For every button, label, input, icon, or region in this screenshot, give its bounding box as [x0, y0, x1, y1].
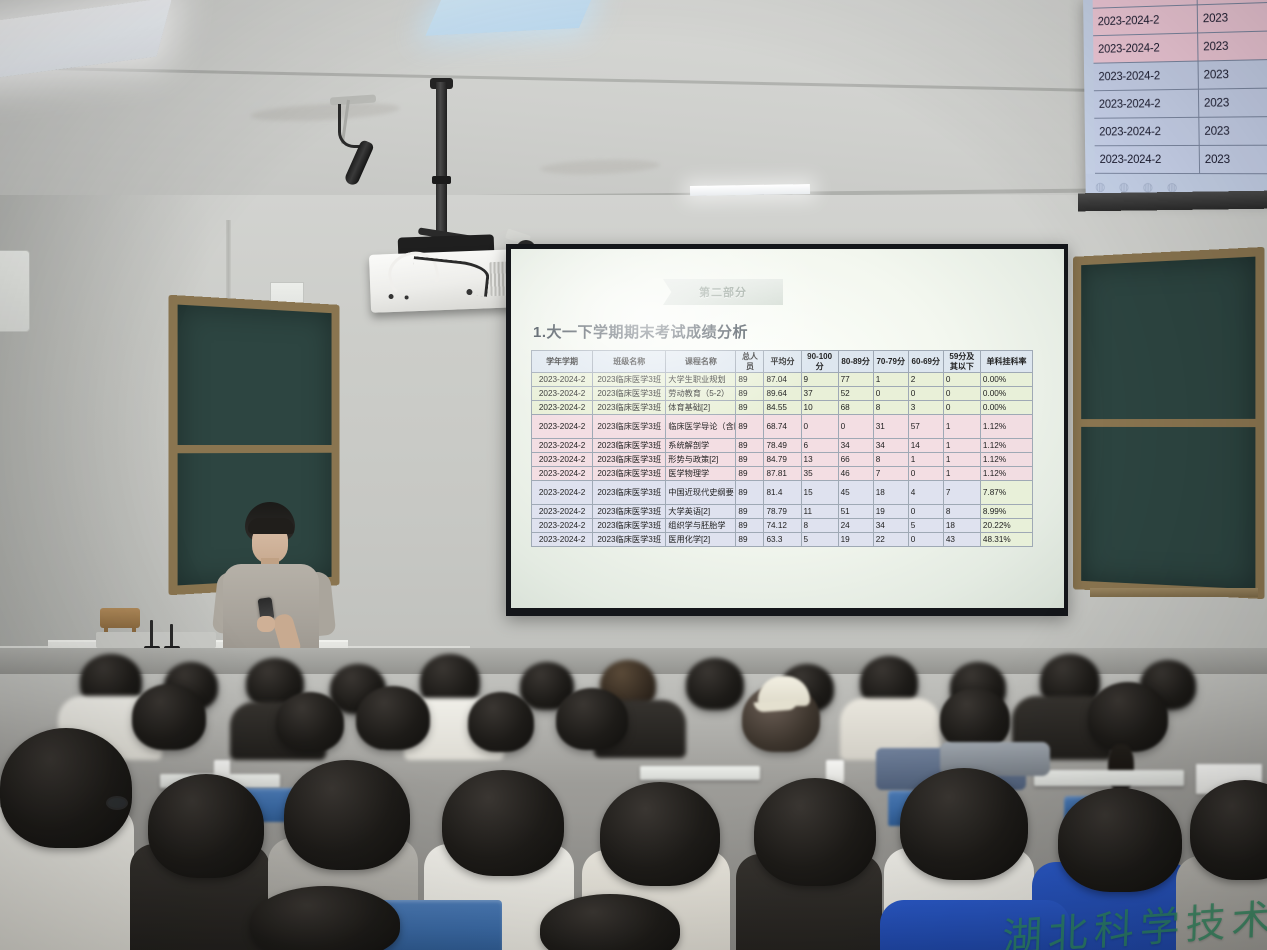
- student-desk: [1034, 770, 1184, 786]
- table-cell-g59: 1: [943, 439, 980, 453]
- table-cell-total: 89: [736, 439, 764, 453]
- student-desk: [640, 766, 760, 780]
- ceiling: [0, 0, 1267, 205]
- audience-head: [686, 658, 744, 710]
- table-cell-course: 形势与政策[2]: [666, 453, 736, 467]
- audience-head-foreground: [754, 778, 876, 886]
- table-cell-g60: 5: [908, 519, 943, 533]
- table-cell-total: 89: [736, 533, 764, 547]
- pointer-stick: [150, 620, 153, 648]
- table-cell-g59: 1: [943, 453, 980, 467]
- table-cell-g80: 66: [838, 453, 873, 467]
- table-cell-class: 2023临床医学3班: [593, 387, 666, 401]
- table-cell-g90: 11: [801, 505, 838, 519]
- table-cell-g80: 68: [838, 401, 873, 415]
- table-column-header-0: 学年学期: [532, 351, 593, 373]
- table-cell-g60: 0: [908, 467, 943, 481]
- table-cell-fail: 8.99%: [980, 505, 1032, 519]
- audience-head: [132, 684, 206, 750]
- table-cell-g70: 8: [873, 401, 908, 415]
- table-cell-g90: 5: [801, 533, 838, 547]
- table-cell-course: 体育基础[2]: [666, 401, 736, 415]
- blackboard-right: [1073, 247, 1265, 599]
- lecture-hall-photo: 2023-2024-220232023-2024-220232023-2024-…: [0, 0, 1267, 950]
- monitor-cell-class: 2023: [1198, 60, 1267, 89]
- monitor-cell-class: 2023: [1199, 88, 1267, 116]
- table-cell-g70: 19: [873, 505, 908, 519]
- table-cell-g90: 6: [801, 439, 838, 453]
- table-cell-g70: 34: [873, 519, 908, 533]
- table-cell-class: 2023临床医学3班: [593, 533, 666, 547]
- wall-duct: [0, 250, 30, 332]
- table-cell-avg: 63.3: [764, 533, 801, 547]
- monitor-table: 2023-2024-220232023-2024-220232023-2024-…: [1092, 0, 1267, 174]
- table-cell-g70: 7: [873, 467, 908, 481]
- table-cell-total: 89: [736, 519, 764, 533]
- monitor-table-row: 2023-2024-22023: [1093, 2, 1267, 36]
- table-cell-class: 2023临床医学3班: [593, 519, 666, 533]
- table-cell-fail: 0.00%: [980, 373, 1032, 387]
- table-column-header-1: 班级名称: [593, 351, 666, 373]
- table-cell-total: 89: [736, 373, 764, 387]
- table-cell-g70: 22: [873, 533, 908, 547]
- audience-head: [356, 686, 430, 750]
- audience-head: [556, 688, 628, 750]
- table-cell-fail: 7.87%: [980, 481, 1032, 505]
- table-cell-avg: 87.04: [764, 373, 801, 387]
- table-cell-fail: 20.22%: [980, 519, 1032, 533]
- table-cell-g60: 4: [908, 481, 943, 505]
- projection-screen: 第二部分 1.大一下学期期末考试成绩分析 学年学期班级名称课程名称总人员平均分9…: [511, 249, 1064, 608]
- table-cell-total: 89: [736, 505, 764, 519]
- table-cell-term: 2023-2024-2: [532, 387, 593, 401]
- table-cell-term: 2023-2024-2: [532, 505, 593, 519]
- table-cell-term: 2023-2024-2: [532, 481, 593, 505]
- table-cell-fail: 1.12%: [980, 439, 1032, 453]
- table-cell-g80: 0: [838, 415, 873, 439]
- audience-body-foreground: [880, 900, 1070, 950]
- presenter-hand: [257, 616, 275, 632]
- table-cell-total: 89: [736, 387, 764, 401]
- table-cell-fail: 0.00%: [980, 401, 1032, 415]
- table-cell-avg: 84.79: [764, 453, 801, 467]
- table-cell-g59: 18: [943, 519, 980, 533]
- audience-head-foreground: [148, 774, 264, 878]
- table-cell-g90: 13: [801, 453, 838, 467]
- monitor-cell-term: 2023-2024-2: [1094, 118, 1199, 145]
- table-cell-course: 中国近现代史纲要: [666, 481, 736, 505]
- table-cell-fail: 1.12%: [980, 415, 1032, 439]
- audience-head-foreground: [600, 782, 720, 886]
- table-cell-g70: 1: [873, 373, 908, 387]
- table-cell-term: 2023-2024-2: [532, 415, 593, 439]
- table-column-header-6: 80-89分: [838, 351, 873, 373]
- table-cell-fail: 48.31%: [980, 533, 1032, 547]
- table-cell-course: 组织学与胚胎学: [666, 519, 736, 533]
- table-cell-g60: 0: [908, 505, 943, 519]
- monitor-table-row: 2023-2024-22023: [1094, 117, 1267, 146]
- slide-section-banner: 第二部分: [663, 279, 783, 305]
- table-header-row: 学年学期班级名称课程名称总人员平均分90-100分80-89分70-79分60-…: [532, 351, 1033, 373]
- table-cell-fail: 1.12%: [980, 467, 1032, 481]
- table-column-header-4: 平均分: [764, 351, 801, 373]
- monitor-table-row: 2023-2024-22023: [1095, 146, 1267, 175]
- audience-head: [940, 688, 1010, 750]
- table-cell-g80: 46: [838, 467, 873, 481]
- table-cell-total: 89: [736, 481, 764, 505]
- chair-back: [100, 608, 140, 628]
- table-cell-total: 89: [736, 453, 764, 467]
- audience-head-foreground: [442, 770, 564, 876]
- table-cell-avg: 78.79: [764, 505, 801, 519]
- table-cell-g60: 1: [908, 453, 943, 467]
- table-cell-g70: 34: [873, 439, 908, 453]
- table-cell-total: 89: [736, 467, 764, 481]
- projection-screen-frame: 第二部分 1.大一下学期期末考试成绩分析 学年学期班级名称课程名称总人员平均分9…: [506, 244, 1068, 616]
- table-cell-g60: 14: [908, 439, 943, 453]
- table-cell-g90: 9: [801, 373, 838, 387]
- projector-pole: [436, 82, 447, 245]
- table-cell-class: 2023临床医学3班: [593, 373, 666, 387]
- table-cell-class: 2023临床医学3班: [593, 453, 666, 467]
- table-cell-avg: 78.49: [764, 439, 801, 453]
- table-cell-g59: 1: [943, 467, 980, 481]
- audience-head-foreground: [1058, 788, 1182, 892]
- monitor-cell-term: 2023-2024-2: [1093, 5, 1198, 35]
- circle-icon-1: ◍: [1095, 180, 1105, 194]
- table-row: 2023-2024-22023临床医学3班大学生职业规划8987.0497712…: [532, 373, 1033, 387]
- table-cell-course: 大学生职业规划: [666, 373, 736, 387]
- presenter-fringe: [248, 518, 294, 534]
- audience-head-foreground: [284, 760, 410, 870]
- monitor-cell-class: 2023: [1200, 146, 1267, 174]
- table-cell-g80: 77: [838, 373, 873, 387]
- table-cell-avg: 84.55: [764, 401, 801, 415]
- projector-pole-joint: [432, 176, 451, 184]
- table-row: 2023-2024-22023临床医学3班临床医学导论（含医学史）8968.74…: [532, 415, 1033, 439]
- ponytail: [1108, 744, 1134, 794]
- table-column-header-9: 59分及其以下: [943, 351, 980, 373]
- table-cell-g90: 15: [801, 481, 838, 505]
- table-cell-fail: 0.00%: [980, 387, 1032, 401]
- monitor-cell-term: 2023-2024-2: [1094, 90, 1199, 118]
- table-cell-g59: 0: [943, 401, 980, 415]
- table-cell-g60: 2: [908, 373, 943, 387]
- table-cell-g60: 0: [908, 533, 943, 547]
- table-cell-term: 2023-2024-2: [532, 373, 593, 387]
- table-row: 2023-2024-22023临床医学3班劳动教育（5-2）8989.64375…: [532, 387, 1033, 401]
- table-row: 2023-2024-22023临床医学3班医学物理学8987.813546701…: [532, 467, 1033, 481]
- table-column-header-10: 单科挂科率: [980, 351, 1032, 373]
- secondary-monitor-display[interactable]: 2023-2024-220232023-2024-220232023-2024-…: [1083, 0, 1267, 197]
- table-row: 2023-2024-22023临床医学3班体育基础[2]8984.5510688…: [532, 401, 1033, 415]
- table-cell-term: 2023-2024-2: [532, 453, 593, 467]
- monitor-cell-class: 2023: [1198, 31, 1267, 61]
- table-cell-g80: 45: [838, 481, 873, 505]
- audience-head-foreground: [250, 886, 400, 950]
- table-cell-class: 2023临床医学3班: [593, 401, 666, 415]
- table-cell-class: 2023临床医学3班: [593, 439, 666, 453]
- audience-head-foreground: [900, 768, 1028, 880]
- table-cell-course: 大学英语[2]: [666, 505, 736, 519]
- table-cell-g70: 0: [873, 387, 908, 401]
- table-cell-g60: 3: [908, 401, 943, 415]
- monitor-table-row: 2023-2024-22023: [1094, 88, 1267, 118]
- table-cell-total: 89: [736, 401, 764, 415]
- table-cell-g70: 18: [873, 481, 908, 505]
- audience-head: [468, 692, 534, 752]
- monitor-cell-class: 2023: [1199, 117, 1267, 145]
- table-cell-g80: 19: [838, 533, 873, 547]
- monitor-cell-term: 2023-2024-2: [1095, 146, 1200, 173]
- table-cell-avg: 74.12: [764, 519, 801, 533]
- table-cell-g70: 31: [873, 415, 908, 439]
- mic-stand: [170, 624, 173, 648]
- table-cell-class: 2023临床医学3班: [593, 467, 666, 481]
- chalk-tray: [1090, 588, 1258, 597]
- table-cell-avg: 81.4: [764, 481, 801, 505]
- table-cell-course: 医用化学[2]: [666, 533, 736, 547]
- audience-head: [276, 692, 344, 752]
- table-cell-total: 89: [736, 415, 764, 439]
- table-cell-term: 2023-2024-2: [532, 467, 593, 481]
- table-cell-g59: 1: [943, 415, 980, 439]
- table-cell-g60: 57: [908, 415, 943, 439]
- table-cell-g70: 8: [873, 453, 908, 467]
- table-cell-g90: 0: [801, 415, 838, 439]
- monitor-cell-term: 2023-2024-2: [1094, 62, 1199, 91]
- table-row: 2023-2024-22023临床医学3班大学英语[2]8978.7911511…: [532, 505, 1033, 519]
- circle-icon-2: ◍: [1119, 180, 1129, 194]
- table-cell-class: 2023临床医学3班: [593, 415, 666, 439]
- table-cell-term: 2023-2024-2: [532, 519, 593, 533]
- table-row: 2023-2024-22023临床医学3班中国近现代史纲要8981.415451…: [532, 481, 1033, 505]
- table-cell-g90: 35: [801, 467, 838, 481]
- audience-head: [1088, 682, 1168, 752]
- grade-analysis-table: 学年学期班级名称课程名称总人员平均分90-100分80-89分70-79分60-…: [531, 350, 1033, 547]
- table-header: 学年学期班级名称课程名称总人员平均分90-100分80-89分70-79分60-…: [532, 351, 1033, 373]
- table-cell-avg: 68.74: [764, 415, 801, 439]
- slide-title: 1.大一下学期期末考试成绩分析: [533, 321, 1048, 342]
- table-cell-g59: 43: [943, 533, 980, 547]
- table-cell-g59: 8: [943, 505, 980, 519]
- table-cell-course: 劳动教育（5-2）: [666, 387, 736, 401]
- monitor-table-row: 2023-2024-22023: [1094, 60, 1267, 92]
- table-body: 2023-2024-22023临床医学3班大学生职业规划8987.0497712…: [532, 373, 1033, 547]
- monitor-cell-term: 2023-2024-2: [1093, 33, 1198, 62]
- table-cell-class: 2023临床医学3班: [593, 505, 666, 519]
- table-cell-g90: 37: [801, 387, 838, 401]
- table-cell-g80: 52: [838, 387, 873, 401]
- table-cell-course: 系统解剖学: [666, 439, 736, 453]
- table-cell-g80: 51: [838, 505, 873, 519]
- table-cell-g80: 34: [838, 439, 873, 453]
- table-cell-g59: 7: [943, 481, 980, 505]
- blackboard-divider: [178, 445, 332, 453]
- table-column-header-8: 60-69分: [908, 351, 943, 373]
- table-column-header-5: 90-100分: [801, 351, 838, 373]
- table-cell-avg: 89.64: [764, 387, 801, 401]
- table-cell-g90: 10: [801, 401, 838, 415]
- monitor-table-row: 2023-2024-22023: [1093, 31, 1267, 64]
- table-cell-g59: 0: [943, 373, 980, 387]
- table-cell-course: 临床医学导论（含医学史）: [666, 415, 736, 439]
- table-cell-g90: 8: [801, 519, 838, 533]
- table-cell-term: 2023-2024-2: [532, 533, 593, 547]
- table-row: 2023-2024-22023临床医学3班系统解剖学8978.496343414…: [532, 439, 1033, 453]
- table-column-header-2: 课程名称: [666, 351, 736, 373]
- glasses-icon: [106, 796, 128, 810]
- table-row: 2023-2024-22023临床医学3班医用化学[2]8963.3519220…: [532, 533, 1033, 547]
- projector-cables: [382, 248, 502, 304]
- monitor-cell-class: 2023: [1198, 2, 1267, 32]
- table-cell-avg: 87.81: [764, 467, 801, 481]
- table-column-header-7: 70-79分: [873, 351, 908, 373]
- table-column-header-3: 总人员: [736, 351, 764, 373]
- table-cell-class: 2023临床医学3班: [593, 481, 666, 505]
- table-row: 2023-2024-22023临床医学3班形势与政策[2]8984.791366…: [532, 453, 1033, 467]
- table-cell-g60: 0: [908, 387, 943, 401]
- ceiling-light-strip: [690, 184, 810, 196]
- table-row: 2023-2024-22023临床医学3班组织学与胚胎学8974.1282434…: [532, 519, 1033, 533]
- slide-content: 第二部分 1.大一下学期期末考试成绩分析 学年学期班级名称课程名称总人员平均分9…: [511, 249, 1064, 608]
- table-cell-term: 2023-2024-2: [532, 439, 593, 453]
- blackboard-divider-right: [1081, 419, 1255, 427]
- table-cell-g59: 0: [943, 387, 980, 401]
- table-cell-fail: 1.12%: [980, 453, 1032, 467]
- audience-head-foreground: [1190, 780, 1267, 880]
- audience-seating-area: WITH: [0, 648, 1267, 950]
- table-cell-term: 2023-2024-2: [532, 401, 593, 415]
- table-cell-g80: 24: [838, 519, 873, 533]
- monitor-bezel: [1078, 191, 1267, 212]
- audience-head-foreground: [0, 728, 132, 848]
- table-cell-course: 医学物理学: [666, 467, 736, 481]
